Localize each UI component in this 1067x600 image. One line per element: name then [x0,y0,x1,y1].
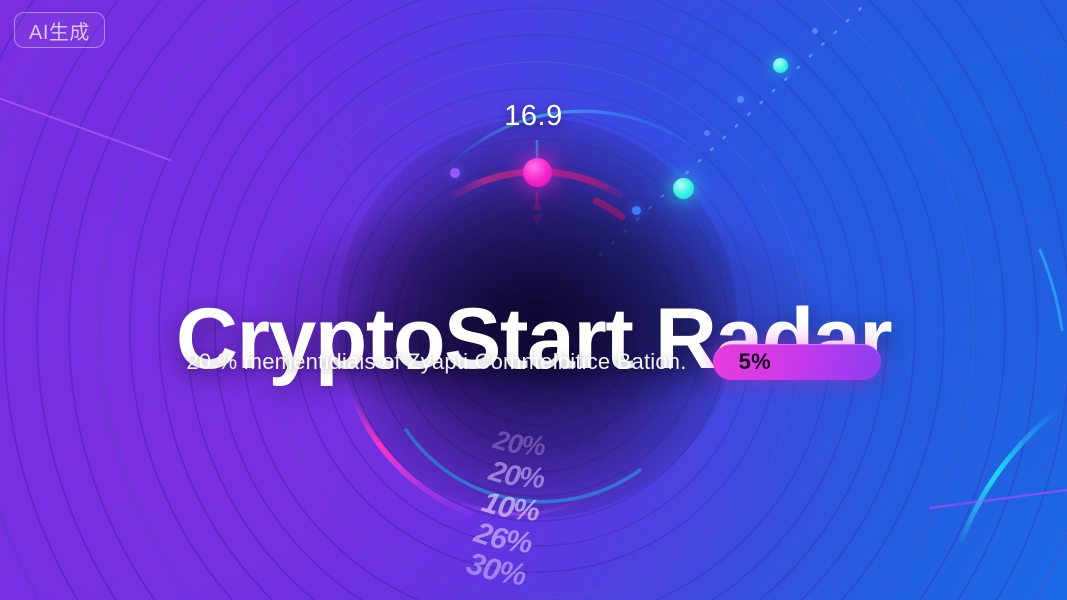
blue-data-marker-a[interactable] [632,206,641,215]
svg-text:26%: 26% [469,516,534,560]
svg-text:30%: 30% [462,545,528,592]
svg-text:20%: 20% [489,424,546,461]
percent-badge[interactable]: 5% [713,344,881,380]
arc-label-2: 10% [478,485,541,527]
blue-ray-dot-outer [812,28,818,34]
percent-badge-label: 5% [739,349,771,375]
purple-data-marker[interactable] [450,168,460,178]
magenta-primary-marker[interactable] [523,158,552,187]
radar-hero-banner: 20% 20% 10% 26% 30% AI生成 16.9 CryptoStar… [0,0,1067,600]
cyan-data-marker-inner[interactable] [673,178,694,199]
svg-text:10%: 10% [478,485,541,527]
subtitle-row: 20 % mementidiais of Zyapti Comntelbitic… [0,344,1067,380]
ai-generated-badge: AI生成 [14,12,105,48]
ai-generated-badge-label: AI生成 [29,16,90,45]
arc-label-3: 26% [469,516,534,560]
radar-value-readout: 16.9 [0,100,1067,133]
page-subtitle: 20 % mementidiais of Zyapti Comntelbitic… [186,349,686,375]
arc-label-4: 30% [462,545,528,592]
cyan-data-marker-outer[interactable] [773,58,788,73]
arc-label-1: 20% [484,455,545,495]
svg-text:20%: 20% [484,455,545,495]
arc-label-0: 20% [489,424,546,461]
